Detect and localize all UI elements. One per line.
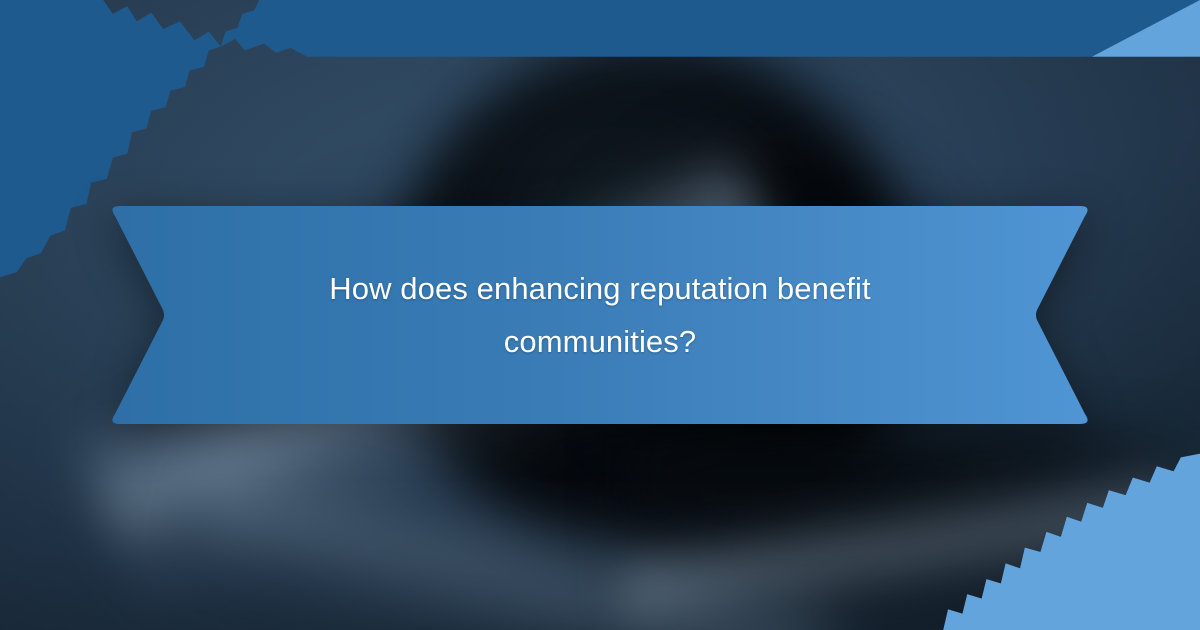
banner-text-block: How does enhancing reputation benefit co…	[108, 198, 1092, 432]
social-card: How does enhancing reputation benefit co…	[0, 0, 1200, 630]
ribbon-banner: How does enhancing reputation benefit co…	[108, 198, 1092, 432]
page-title: How does enhancing reputation benefit co…	[250, 262, 950, 369]
